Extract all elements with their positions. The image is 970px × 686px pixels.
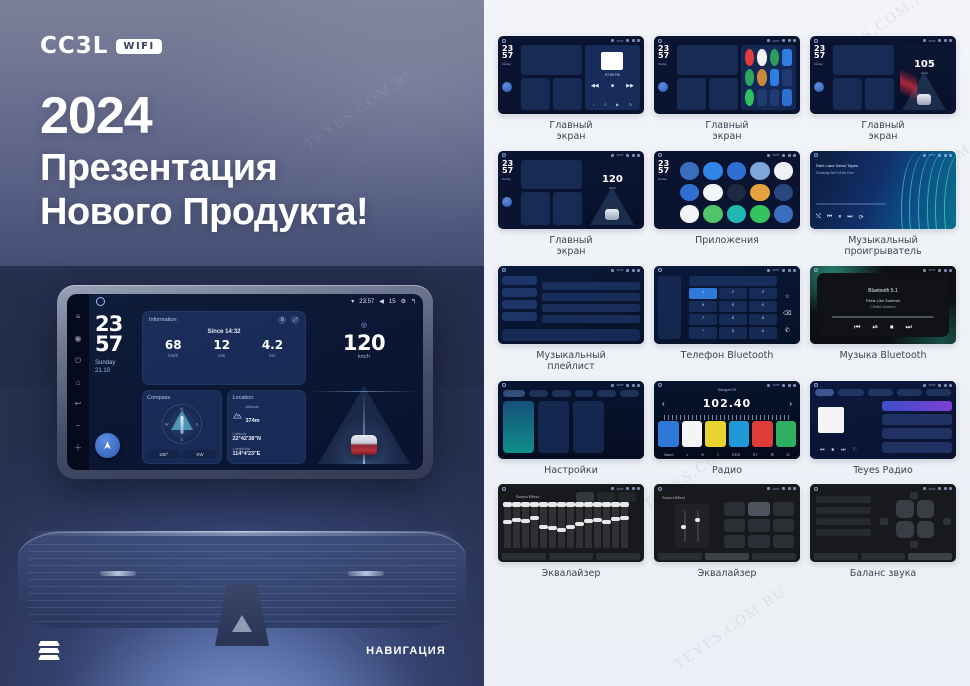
carplay-card[interactable] [538, 401, 569, 453]
speed-unit: km/h [311, 354, 417, 360]
screen-side-rail[interactable]: ≡ ◉ ⏻ ⌂ ↩ − ＋ [67, 294, 89, 470]
thumbnail-home-speed-120[interactable]: 23:57 23 57 Sunday [498, 151, 644, 229]
station-row[interactable] [882, 442, 952, 453]
status-icons: 23:57 [611, 153, 640, 157]
secondary-controls: ♪≡▶↻ [588, 102, 637, 107]
dash-button-left[interactable] [100, 571, 136, 576]
clock-minutes: 57 [502, 52, 518, 59]
preset-vocal[interactable] [748, 519, 769, 532]
bass-treble-sliders[interactable] [674, 504, 709, 548]
list-icon: ≡ [604, 102, 606, 107]
phone-sidebar[interactable] [658, 276, 681, 339]
thumb-status-bar: 23:57 [502, 38, 640, 43]
footer-tab-eq[interactable] [502, 553, 546, 560]
stop-icon[interactable]: ⏹ [890, 324, 894, 332]
status-volume: 15 [389, 299, 396, 305]
thumb-tile-row [521, 78, 582, 110]
thumbnail-home-apps[interactable]: 23:57 23 57 Sunday [654, 36, 800, 114]
headline-line-2: Нового Продукта! [40, 190, 368, 234]
gallery-caption: Музыка Bluetooth [839, 351, 926, 362]
location-tile [709, 78, 738, 110]
station-list[interactable] [882, 401, 952, 453]
track-title: Dark Lane Demo Tapes [816, 163, 858, 168]
gallery-item[interactable]: 23:57 23 57 Sunday [498, 36, 644, 143]
clock-day: Sunday [658, 63, 674, 66]
key-9[interactable]: 9 [749, 314, 777, 325]
thumbnail-bluetooth-phone[interactable]: 23:57 1 23 456 789 *0# ☆ ⌫ ✆ [654, 266, 800, 344]
status-icons: 23:57 [767, 153, 796, 157]
latitude-value: 22°42'38"N [233, 436, 301, 442]
footer-tab-fade-active[interactable] [908, 553, 952, 560]
location-tile[interactable]: Location Altitude 374m Latitude 22°4 [227, 390, 307, 464]
clock-widget: 23 57 Sunday 21.10 [95, 311, 137, 464]
thumb-body: 23 57 Sunday [502, 160, 640, 225]
app-icon-bluetooth [703, 162, 722, 180]
product-logo: CC3L WIFI [40, 33, 162, 59]
thumb-tiles [521, 160, 582, 225]
status-icons: 23:57 [923, 487, 952, 491]
chevron-left-icon[interactable]: ‹ [662, 399, 665, 408]
footer-tab-sound[interactable] [549, 553, 593, 560]
balance-presets[interactable] [816, 496, 871, 536]
preset-pop[interactable] [724, 502, 745, 515]
pause-icon[interactable]: ⏸ [838, 214, 841, 221]
volume-down-icon[interactable]: − [74, 421, 83, 430]
front-button[interactable] [910, 492, 918, 499]
key-1[interactable]: 1 [689, 288, 717, 299]
gallery-item[interactable]: 23:57 Sound Effect [654, 484, 800, 580]
back-arrow-icon[interactable]: ↰ [411, 298, 416, 305]
clock-day: Sunday [502, 178, 518, 181]
preset-grid[interactable] [724, 502, 794, 548]
radio-presets[interactable] [658, 421, 796, 447]
thumb-status-bar: 23:57 [502, 268, 640, 273]
compass-tile[interactable]: Compass N S W E 180° SW [142, 390, 222, 464]
key-6[interactable]: 6 [749, 301, 777, 312]
stat-item: 4.2 km [262, 339, 283, 358]
footer-tab-eq[interactable] [814, 553, 858, 560]
gallery-caption: Настройки [544, 466, 598, 477]
stat-unit: km/h [165, 353, 182, 358]
clock-day: Sunday [814, 63, 830, 66]
key-4[interactable]: 4 [689, 301, 717, 312]
gallery-caption: Главныйэкран [549, 121, 592, 143]
gallery-item[interactable]: 23:57 [810, 381, 956, 477]
information-tile [521, 45, 582, 75]
home-circle-icon[interactable] [96, 297, 105, 306]
key-2[interactable]: 2 [719, 288, 747, 299]
settings-tabs[interactable] [503, 390, 639, 398]
app-icon-chrome [680, 184, 699, 202]
eq-mode-tab[interactable] [597, 492, 615, 502]
gear-icon[interactable]: ⚙ [770, 452, 774, 457]
tab-sound[interactable] [529, 390, 548, 397]
app-grid [677, 160, 796, 225]
screen-content: ▾ 23:57 ◀ 15 ⚙ ↰ 23 57 Sunday [89, 294, 423, 470]
thumbnail-equalizer-presets[interactable]: 23:57 Sound Effect [654, 484, 800, 562]
album-art [818, 407, 844, 433]
rds-icon[interactable]: RDS [732, 452, 740, 457]
thumb-tile-row [833, 78, 894, 110]
expand-icon[interactable]: ⤢ [291, 316, 299, 324]
information-header: Information ↻ ⤢ [149, 316, 299, 324]
status-icons: 23:57 [611, 39, 640, 43]
gallery-caption: Баланс звука [850, 569, 917, 580]
home-circle-icon [658, 268, 662, 272]
home-circle-icon [814, 153, 818, 157]
gallery-grid: 23:57 23 57 Sunday [498, 36, 956, 580]
home-circle-icon [658, 383, 662, 387]
key-8[interactable]: 8 [719, 314, 747, 325]
preset-rock[interactable] [773, 502, 794, 515]
tuning-scale[interactable] [664, 415, 790, 420]
speed-value: 105 [897, 59, 952, 70]
back-icon[interactable]: ↩ [74, 399, 83, 408]
menu-icon[interactable]: ≡ [74, 312, 83, 321]
gallery-item[interactable]: 23:57 23 57 Sunday [654, 36, 800, 143]
right-button[interactable] [943, 518, 951, 525]
app-icon [745, 69, 755, 86]
speedometer-icon: ◎ [361, 321, 367, 329]
speed-tile[interactable]: ◎ 120 km/h [311, 311, 417, 464]
stat-value: 12 [213, 339, 230, 351]
teyes-tabs[interactable] [815, 389, 951, 397]
gallery-item[interactable]: 23:57 23 57 Sunday [654, 151, 800, 258]
navigation-arrow-icon [502, 197, 512, 207]
clock-minutes: 57 [658, 52, 674, 59]
gallery-caption: Эквалайзер [698, 569, 757, 580]
playlist-sidebar[interactable] [502, 276, 537, 321]
clock-minutes: 57 [814, 52, 830, 59]
radio-frequency: 102.40 [654, 397, 800, 410]
headline-year: 2024 [40, 90, 368, 142]
app-icon-avin [680, 162, 699, 180]
altitude-value: 374m [246, 418, 260, 424]
thumb-body: 23 57 Sunday [658, 160, 796, 225]
power-icon[interactable]: ⏻ [74, 356, 83, 365]
home-circle-icon [814, 487, 818, 491]
app-icon [770, 49, 780, 66]
information-tile[interactable]: Information ↻ ⤢ Since 14:32 68 km [142, 311, 306, 385]
phone-actions[interactable]: ☆ ⌫ ✆ [778, 288, 796, 339]
now-playing-bar[interactable] [502, 329, 640, 341]
thumbnail-teyes-radio[interactable]: 23:57 [810, 381, 956, 459]
home-circle-icon [814, 39, 818, 43]
compass-readout: 180° SW [147, 450, 217, 459]
speed-unit: km/h [897, 71, 952, 75]
tab-all[interactable] [815, 389, 834, 396]
longitude-row: Longitude 114°4'23"E [233, 446, 301, 457]
preset-2[interactable] [682, 421, 703, 447]
thumbnail-bluetooth-music[interactable]: 23:57 Bluetooth 5.1 Feels Like Summer Ch… [810, 266, 956, 344]
more-card[interactable] [573, 401, 604, 453]
status-bar: ▾ 23:57 ◀ 15 ⚙ ↰ [89, 294, 423, 309]
star-icon[interactable]: ☆ [785, 293, 790, 300]
gallery-item[interactable]: 23:57 Баланс звука [810, 484, 956, 580]
app-icon-playstore [750, 205, 769, 223]
preset-jazz[interactable] [724, 519, 745, 532]
track-artist: Someday We'll All Be Free [816, 171, 854, 175]
gallery-item[interactable]: 23:57 23 57 Sunday [810, 36, 956, 143]
app-icon [757, 69, 767, 86]
preset-6[interactable] [776, 421, 797, 447]
phone-number-field[interactable] [689, 276, 777, 286]
tab-genres[interactable] [838, 389, 863, 396]
gallery-item[interactable]: 23:57 23 57 Sunday [498, 151, 644, 258]
preset-flat[interactable] [773, 535, 794, 548]
repeat-icon[interactable]: ⟳ [859, 214, 864, 221]
thumb-status-bar: 23:57 [814, 268, 952, 273]
radio-icon[interactable]: ◉ [74, 334, 83, 343]
thumbnail-music-player[interactable]: 23:57 Dark Lane Demo Tapes Someday We'll… [810, 151, 956, 229]
gallery-item[interactable]: 23:57 Bluetooth 5.1 Feels Like Summer Ch… [810, 266, 956, 373]
gallery-item[interactable]: 23:57 Магадан FM 102.40 ‹ › [654, 381, 800, 477]
wifi-card[interactable] [503, 401, 534, 453]
backspace-icon[interactable]: ⌫ [783, 310, 791, 317]
car-graphic [917, 94, 931, 105]
tab-display[interactable] [552, 390, 571, 397]
footer-tab-sound[interactable] [861, 553, 905, 560]
album-art [601, 52, 623, 70]
gear-icon[interactable]: ⚙ [401, 298, 406, 305]
prev-icon[interactable]: ⏮ [854, 324, 860, 332]
radio-toolbar[interactable]: Band⌕ ≋≡ RDSST ⚙⏻ [658, 452, 796, 457]
speaker-balance-pad[interactable] [896, 500, 934, 538]
app-icon [770, 89, 780, 106]
status-icons: 23:57 [923, 268, 952, 272]
play-icon: ▶ [616, 102, 619, 107]
location-title: Location [233, 395, 301, 401]
compass-dial: N S W E [162, 404, 202, 444]
chevron-right-icon[interactable]: › [789, 399, 792, 408]
preset-country[interactable] [724, 535, 745, 548]
navigation-arrow-icon [814, 82, 824, 92]
key-7[interactable]: 7 [689, 314, 717, 325]
equalizer-sliders[interactable] [504, 502, 628, 548]
equalizer-footer-tabs[interactable] [658, 553, 796, 560]
head-unit-bezel: ≡ ◉ ⏻ ⌂ ↩ − ＋ ▾ 23:57 ◀ 15 [57, 285, 433, 479]
preset-classic-active[interactable] [748, 502, 769, 515]
hazard-triangle-icon [232, 615, 252, 632]
eq-mode-tabs[interactable] [576, 492, 636, 502]
playback-controls: ◀◀■▶▶ [585, 83, 640, 89]
thumb-clock: 23 57 Sunday [502, 45, 518, 110]
track-artist: Childish Gambino [810, 305, 956, 309]
refresh-icon[interactable]: ↻ [278, 316, 286, 324]
thumbnail-apps[interactable]: 23:57 23 57 Sunday [654, 151, 800, 229]
playlist-rows[interactable] [542, 282, 640, 323]
loop-icon: ↻ [629, 102, 632, 107]
status-icons: 23:57 [767, 39, 796, 43]
home-circle-icon [502, 268, 506, 272]
preset-custom[interactable] [748, 535, 769, 548]
preset-5[interactable] [752, 421, 773, 447]
home-icon[interactable]: ⌂ [74, 378, 83, 387]
gallery-item[interactable]: 23:57 Sound Effect [498, 484, 644, 580]
playback-controls[interactable]: ⤭ ⏮ ⏸ ⏭ ⟳ [816, 214, 864, 221]
thumbnail-home-speed-105[interactable]: 23:57 23 57 Sunday [810, 36, 956, 114]
list-icon[interactable]: ≡ [717, 452, 719, 457]
tab-general[interactable] [597, 390, 616, 397]
clock-minutes: 57 [502, 167, 518, 174]
equalizer-footer-tabs[interactable] [814, 553, 952, 560]
compass-tile [677, 78, 706, 110]
station-row-active[interactable] [882, 401, 952, 412]
status-icons: 23:57 [767, 268, 796, 272]
eq-mode-tab[interactable] [618, 492, 636, 502]
thumb-status-bar: 23:57 [502, 486, 640, 491]
key-star[interactable]: * [689, 327, 717, 338]
playback-controls[interactable]: ⏮⏹⏭♡ [820, 447, 857, 453]
tab-sport[interactable] [926, 389, 951, 396]
tab-music[interactable] [868, 389, 893, 396]
gallery-caption: Эквалайзер [542, 569, 601, 580]
navigation-arrow-icon [658, 82, 668, 92]
compass-west-label: W [165, 422, 169, 427]
station-row[interactable] [882, 428, 952, 439]
thumb-status-bar: 23:57 [814, 38, 952, 43]
dial-pad[interactable]: 1 23 456 789 *0# [689, 288, 777, 339]
app-icon [745, 49, 755, 66]
progress-bar[interactable] [816, 203, 886, 205]
settings-cards[interactable] [503, 401, 639, 453]
tab-apps[interactable] [575, 390, 594, 397]
shuffle-icon[interactable]: ⤭ [816, 214, 821, 221]
footer-tab-fade[interactable] [752, 553, 796, 560]
location-tile [553, 192, 582, 224]
left-button[interactable] [880, 518, 888, 525]
wifi-badge: WIFI [116, 39, 161, 54]
volume-up-icon[interactable]: ＋ [74, 443, 83, 452]
visualizer-lines [895, 151, 956, 229]
favorite-icon[interactable]: ♡ [853, 447, 857, 453]
information-actions: ↻ ⤢ [278, 316, 299, 324]
key-hash[interactable]: # [749, 327, 777, 338]
location-tile [553, 78, 582, 110]
thumbnail-settings[interactable]: 23:57 [498, 381, 644, 459]
next-icon[interactable]: ⏭ [841, 447, 846, 453]
station-row[interactable] [882, 414, 952, 425]
thumb-status-bar: 23:57 [658, 38, 796, 43]
band-icon[interactable]: Band [664, 452, 673, 457]
next-icon[interactable]: ⏭ [906, 324, 912, 332]
app-icon-bluetooth-music [727, 162, 746, 180]
compass-title: Compass [147, 395, 217, 401]
next-icon[interactable]: ⏭ [847, 214, 852, 221]
stop-icon[interactable]: ⏹ [832, 447, 835, 453]
footer-tab-sound-active[interactable] [705, 553, 749, 560]
thumbnail-sound-balance[interactable]: 23:57 [810, 484, 956, 562]
home-circle-icon [658, 487, 662, 491]
stereo-icon[interactable]: ST [753, 452, 758, 457]
thumb-status-bar: 23:57 [814, 383, 952, 388]
tab-news[interactable] [897, 389, 922, 396]
key-3[interactable]: 3 [749, 288, 777, 299]
app-icon-clock [703, 184, 722, 202]
headline-line-1: Презентация [40, 146, 368, 190]
navigation-arrow-icon[interactable] [95, 433, 120, 458]
preset-dance[interactable] [773, 519, 794, 532]
gallery-item[interactable]: 23:57 [498, 381, 644, 477]
play-pause-icon[interactable]: ⏯ [872, 324, 878, 332]
thumbnail-music-playlist[interactable]: 23:57 [498, 266, 644, 344]
app-grid [741, 45, 796, 110]
thumb-tiles [833, 45, 894, 110]
preset-3[interactable] [705, 421, 726, 447]
progress-bar[interactable] [832, 316, 934, 318]
tab-wlan[interactable] [503, 390, 525, 397]
app-icon [782, 89, 792, 106]
information-tile [677, 45, 738, 75]
eq-icon: ♪ [593, 102, 595, 107]
gallery-caption: Музыкальныйпроигрыватель [844, 236, 921, 258]
information-since: Since 14:32 [149, 329, 299, 335]
thumb-body: 23 57 Sunday [658, 45, 796, 110]
preset-1[interactable] [658, 421, 679, 447]
gallery-item[interactable]: 23:57 1 23 456 789 *0# ☆ ⌫ ✆ [654, 266, 800, 373]
status-icons: 23:57 [923, 383, 952, 387]
footer-tab-fade[interactable] [596, 553, 640, 560]
gallery-item[interactable]: 23:57 Музыкальныйплейлист [498, 266, 644, 373]
gallery-item[interactable]: 23:57 Dark Lane Demo Tapes Someday We'll… [810, 151, 956, 258]
home-circle-icon [814, 383, 818, 387]
prev-icon[interactable]: ⏮ [827, 214, 832, 221]
compass-tile [521, 192, 550, 224]
status-bar-right: ▾ 23:57 ◀ 15 ⚙ ↰ [351, 298, 416, 305]
thumb-tile-row [521, 192, 582, 224]
clock-day: Sunday [95, 360, 115, 368]
thumbnail-home-music[interactable]: 23:57 23 57 Sunday [498, 36, 644, 114]
equalizer-footer-tabs[interactable] [502, 553, 640, 560]
head-unit-screen[interactable]: ≡ ◉ ⏻ ⌂ ↩ − ＋ ▾ 23:57 ◀ 15 [67, 294, 423, 470]
eq-mode-tab[interactable] [576, 492, 594, 502]
key-5[interactable]: 5 [719, 301, 747, 312]
app-icon-dsp [727, 184, 746, 202]
speed-widget: 120 km/h [585, 160, 640, 225]
power-icon[interactable]: ⏻ [786, 452, 789, 457]
thumbnail-equalizer-bars[interactable]: 23:57 Sound Effect [498, 484, 644, 562]
thumb-body: 23 57 Sunday [502, 45, 640, 110]
app-icon-filemanager [750, 184, 769, 202]
app-icon [782, 69, 792, 86]
logo-text: CC3L [40, 33, 108, 59]
prev-icon[interactable]: ⏮ [820, 447, 825, 453]
preset-4[interactable] [729, 421, 750, 447]
footer-tab-eq[interactable] [658, 553, 702, 560]
app-icon-calculator [750, 162, 769, 180]
tab-system[interactable] [620, 390, 639, 397]
stat-value: 4.2 [262, 339, 283, 351]
thumbnail-radio[interactable]: 23:57 Магадан FM 102.40 ‹ › [654, 381, 800, 459]
wifi-icon: ▾ [351, 298, 354, 305]
search-icon[interactable]: ⌕ [686, 452, 688, 457]
car-graphic [605, 209, 619, 220]
app-icon [745, 89, 755, 106]
home-circle-icon [502, 39, 506, 43]
stat-item: 12 min [213, 339, 230, 358]
eq-icon[interactable]: ≋ [701, 452, 704, 457]
rear-button[interactable] [910, 541, 918, 548]
key-0[interactable]: 0 [719, 327, 747, 338]
home-circle-icon [502, 487, 506, 491]
information-tile [833, 45, 894, 75]
call-icon[interactable]: ✆ [785, 327, 790, 334]
navigation-label: НАВИГАЦИЯ [366, 645, 446, 657]
dash-button-right[interactable] [348, 571, 384, 576]
playback-controls[interactable]: ⏮ ⏯ ⏹ ⏭ [810, 324, 956, 332]
hero-panel: TEYES.COM.RU TEYES.COM.RU TEYES.COM.RU C… [0, 0, 484, 686]
speed-unit: km/h [585, 186, 640, 190]
